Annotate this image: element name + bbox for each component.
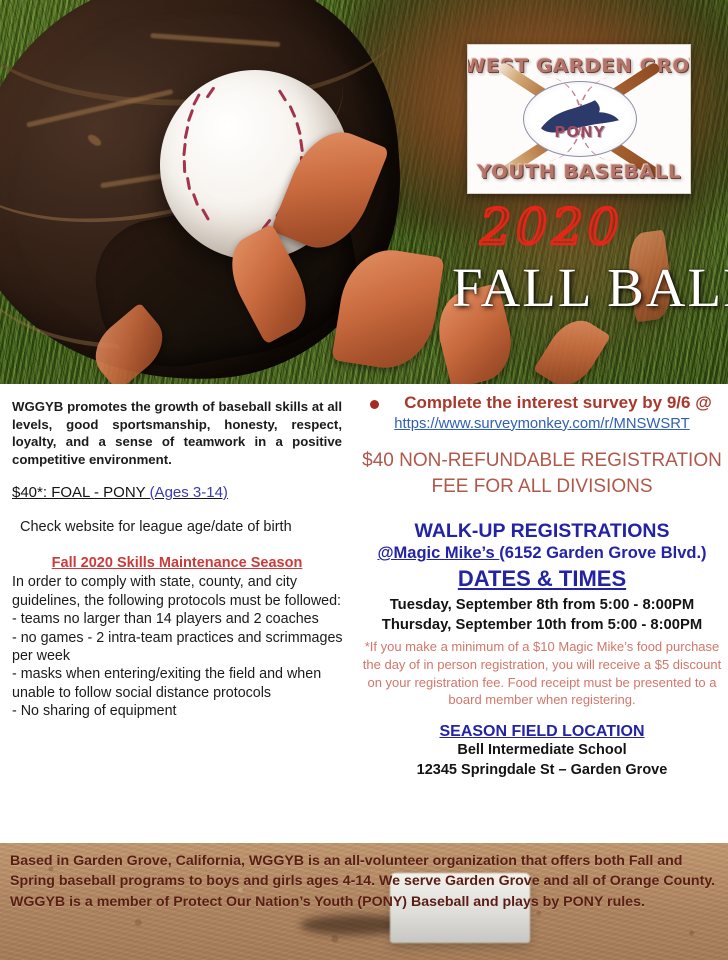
discount-note: *If you make a minimum of a $10 Magic Mi…	[362, 638, 722, 709]
survey-callout: Complete the interest survey by 9/6 @	[356, 392, 728, 414]
left-column: WGGYB promotes the growth of baseball sk…	[8, 384, 346, 721]
logo-bottom-text: YOUTH BASEBALL	[467, 161, 691, 183]
survey-instruction: Complete the interest survey by 9/6 @	[388, 392, 728, 414]
protocol-item: - No sharing of equipment	[12, 702, 344, 720]
walkup-heading: WALK-UP REGISTRATIONS	[356, 520, 728, 543]
ball-stitch	[183, 160, 186, 173]
survey-link[interactable]: https://www.surveymonkey.com/r/MNSWSRT	[356, 416, 728, 432]
logo-baseball-icon: PONY	[523, 81, 637, 157]
walkup-address: (6152 Garden Grove Blvd.)	[499, 544, 706, 562]
field-name: Bell Intermediate School	[356, 741, 728, 760]
organization-description: Based in Garden Grove, California, WGGYB…	[10, 851, 716, 912]
ball-stitch	[182, 143, 186, 156]
ball-stitch	[295, 122, 301, 135]
bottom-info-banner: Based in Garden Grove, California, WGGYB…	[0, 843, 728, 960]
ball-stitch	[192, 93, 201, 106]
fall-ball-flyer: WEST GARDEN GROVE PONY YOUTH BASEBALL 20…	[0, 0, 728, 960]
field-address: 12345 Springdale St – Garden Grove	[356, 761, 728, 780]
season-heading: Fall 2020 Skills Maintenance Season	[8, 555, 346, 571]
walkup-location: @Magic Mike’s (6152 Garden Grove Blvd.)	[356, 544, 728, 563]
ball-stitch	[186, 177, 191, 190]
ball-stitch	[201, 208, 210, 221]
ball-stitch	[288, 105, 296, 118]
check-website-note: Check website for league age/date of bir…	[20, 519, 346, 535]
date-line: Thursday, September 10th from 5:00 - 8:0…	[356, 615, 728, 635]
flyer-body: WGGYB promotes the growth of baseball sk…	[0, 384, 728, 843]
registration-fee-notice: $40 NON-REFUNDABLE REGISTRATION FEE FOR …	[356, 448, 728, 500]
ball-stitch	[184, 126, 190, 139]
right-column: Complete the interest survey by 9/6 @ ht…	[356, 384, 728, 780]
walkup-venue: @Magic Mike’s	[377, 544, 499, 562]
ball-stitch	[299, 139, 304, 152]
league-logo: WEST GARDEN GROVE PONY YOUTH BASEBALL	[467, 44, 691, 194]
ball-stitch	[206, 86, 216, 98]
field-location-heading: SEASON FIELD LOCATION	[356, 723, 728, 741]
fee-divisions-line: $40*: FOAL - PONY (Ages 3-14)	[12, 484, 346, 501]
protocol-intro: In order to comply with state, county, a…	[12, 573, 344, 610]
mission-statement: WGGYB promotes the growth of baseball sk…	[12, 398, 342, 468]
protocol-list: In order to comply with state, county, a…	[12, 573, 344, 721]
ball-stitch	[192, 193, 199, 206]
bullet-dot-icon	[370, 400, 379, 409]
header-photo-baseball-glove-leaves: WEST GARDEN GROVE PONY YOUTH BASEBALL 20…	[0, 0, 728, 384]
fall-ball-title: FALL BALL	[452, 256, 728, 319]
protocol-item: - masks when entering/exiting the field …	[12, 665, 344, 702]
dates-times-heading: DATES & TIMES	[356, 566, 728, 592]
date-line: Tuesday, September 8th from 5:00 - 8:00P…	[356, 595, 728, 615]
ball-stitch	[278, 89, 287, 102]
protocol-item: - teams no larger than 14 players and 2 …	[12, 610, 344, 628]
year-title: 2020	[480, 198, 623, 256]
ball-stitch	[187, 109, 194, 122]
pony-wordmark: PONY	[554, 123, 605, 141]
protocol-item: - no games - 2 intra-team practices and …	[12, 629, 344, 666]
fee-divisions-ages: (Ages 3-14)	[150, 484, 228, 501]
fee-divisions-prefix: $40*: FOAL - PONY	[12, 484, 150, 501]
